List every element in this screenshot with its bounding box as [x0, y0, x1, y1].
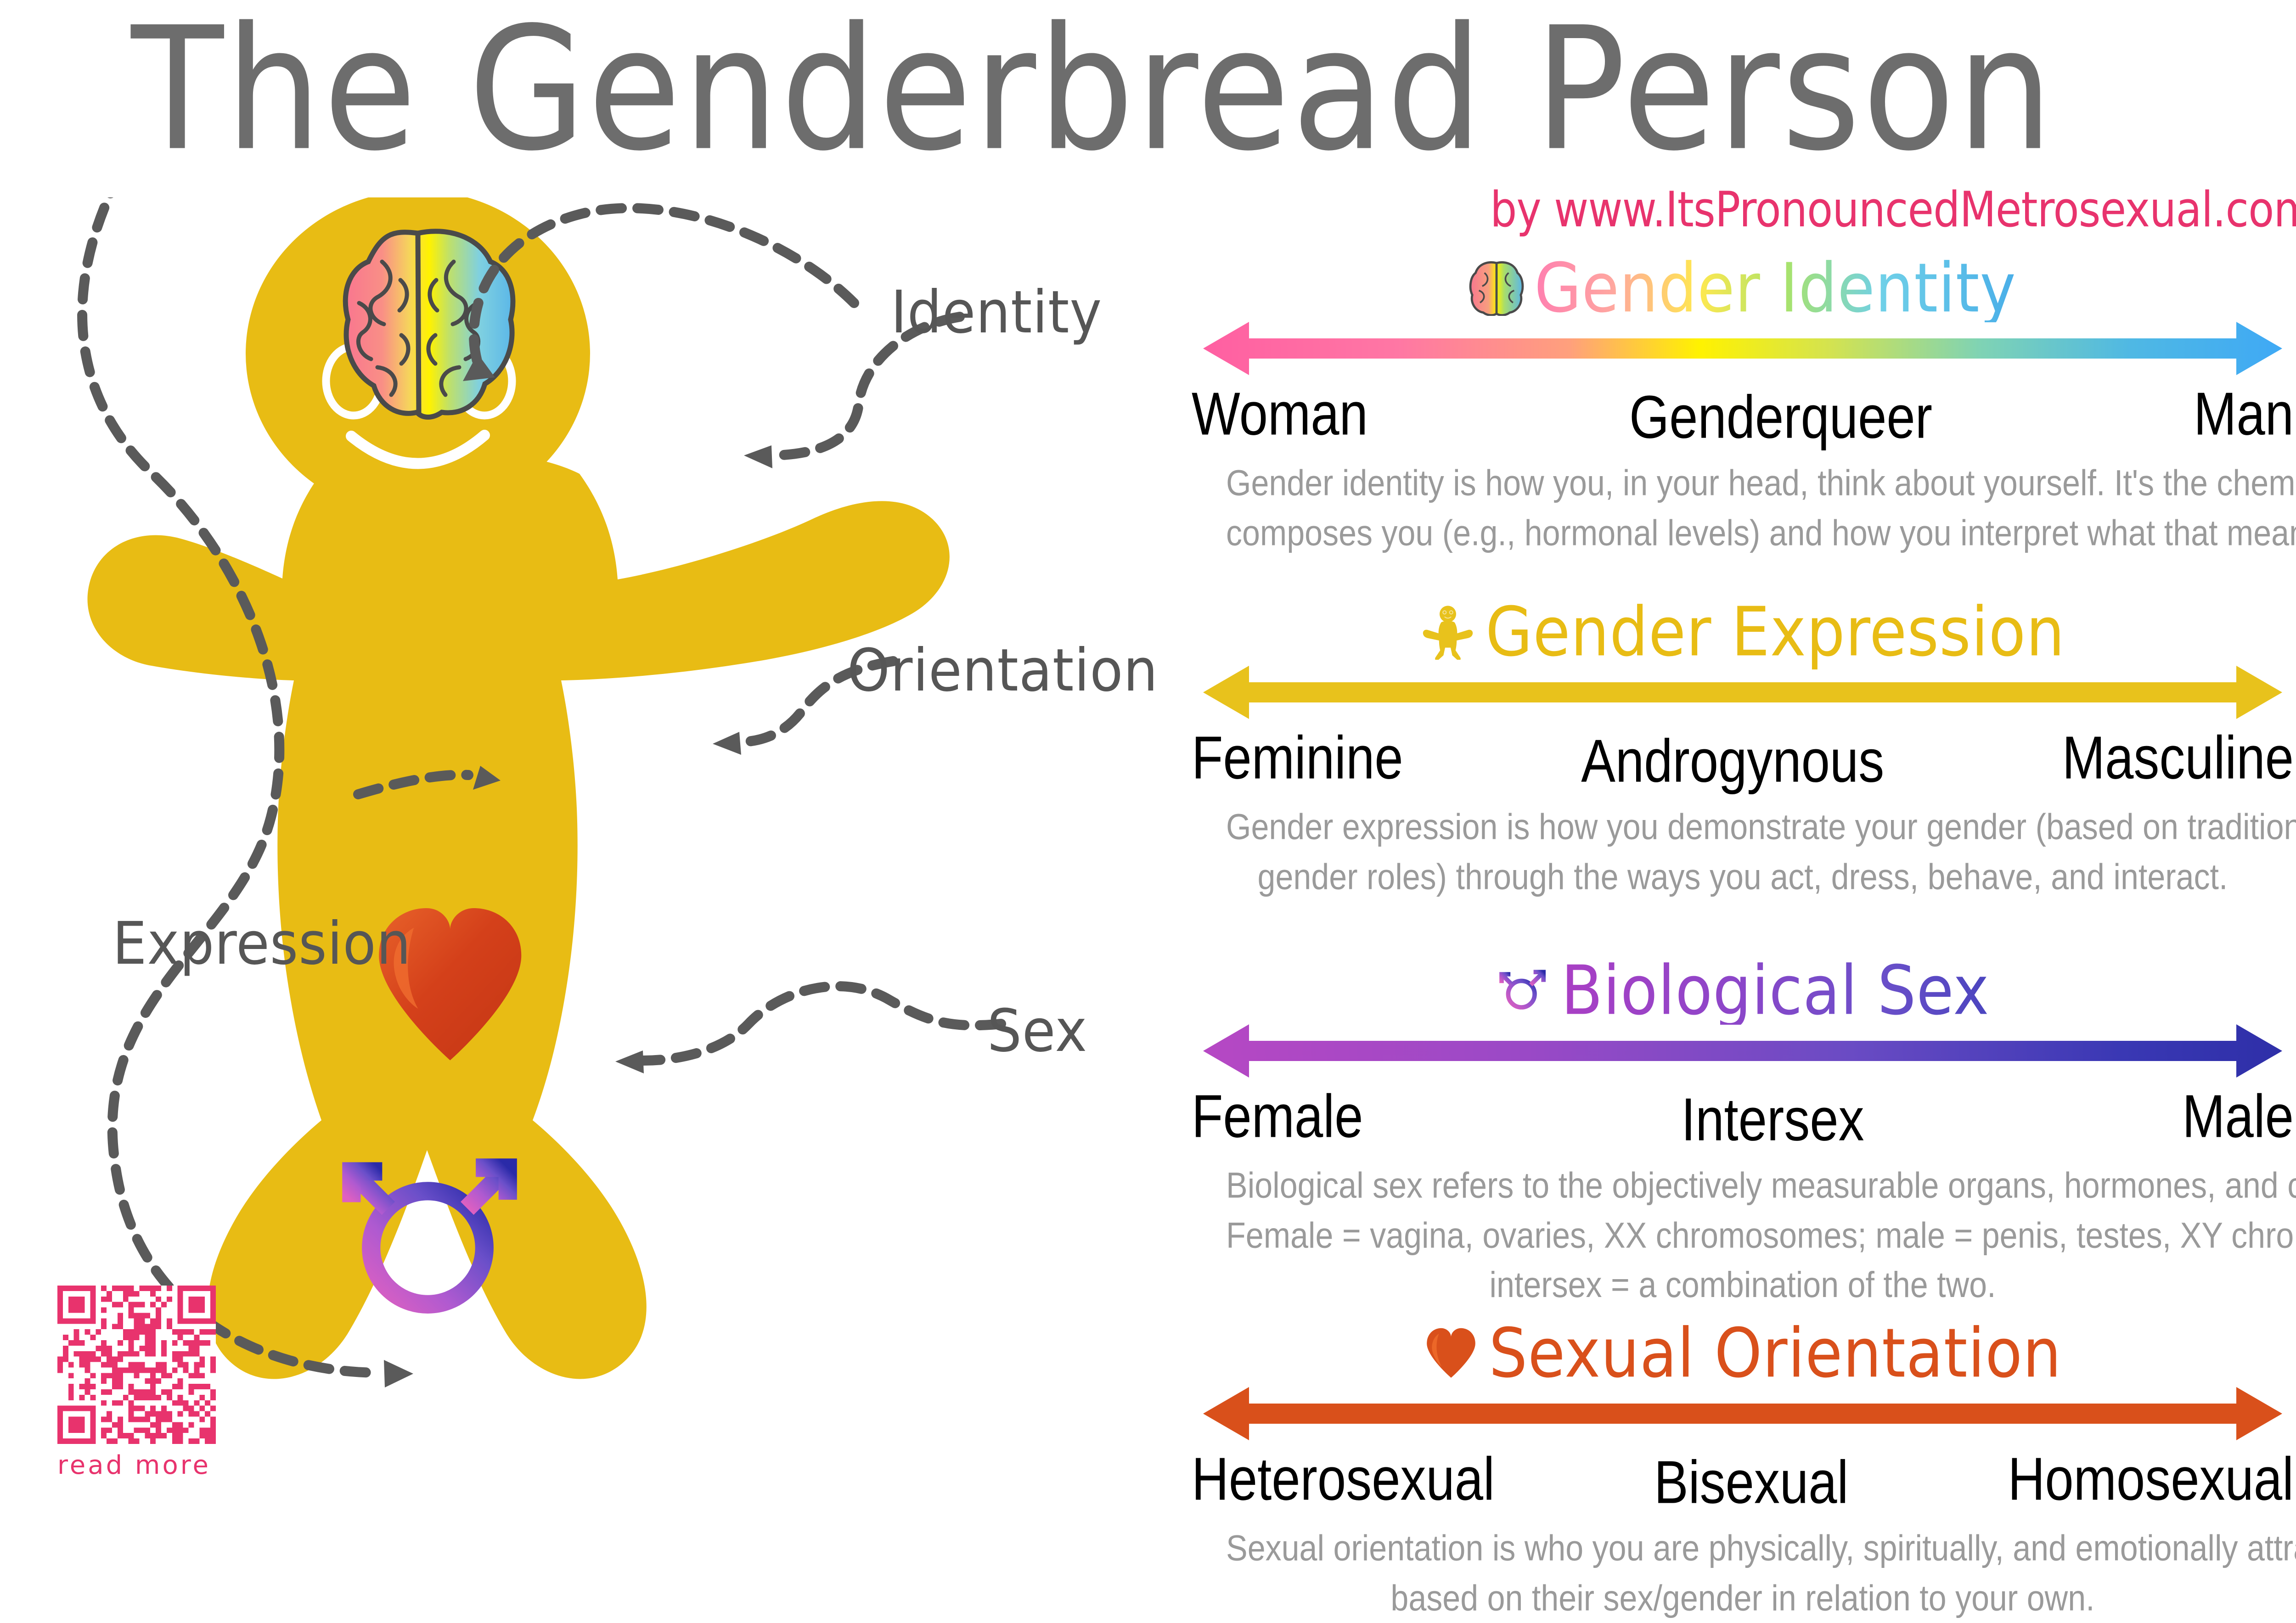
spectrum-pole-labels: Feminine Androgynous Masculine	[1192, 723, 2294, 782]
byline-credit[interactable]: by www.ItsPronouncedMetrosexual.com	[1490, 181, 2296, 238]
pole-mid: Genderqueer	[1629, 382, 1932, 452]
spectrum-arrow	[1176, 665, 2296, 720]
pole-mid: Androgynous	[1581, 726, 1884, 796]
section-description: Biological sex refers to the objectively…	[1226, 1161, 2259, 1310]
transgender-symbol-icon	[351, 1168, 507, 1358]
section-header: Biological Sex	[1176, 960, 2296, 1022]
heart-icon	[1424, 1326, 1479, 1381]
section-title: Gender Identity	[1534, 254, 2016, 322]
callout-label-expression: Expression	[113, 909, 411, 977]
section-description: Gender expression is how you demonstrate…	[1226, 802, 2259, 901]
desc-line: Gender identity is how you, in your head…	[1226, 458, 2259, 508]
section-header: Sexual Orientation	[1176, 1322, 2296, 1384]
pole-right: Masculine	[2062, 723, 2294, 792]
qr-caption: read more	[57, 1450, 232, 1480]
gingerbread-body	[87, 197, 949, 1379]
section-sexual-orientation: Sexual Orientation Heterosexual Bisexual…	[1176, 1322, 2296, 1612]
spectrum-arrow	[1176, 1023, 2296, 1078]
section-description: Gender identity is how you, in your head…	[1226, 458, 2259, 557]
section-gender-expression: Gender Expression Feminine Androgynous M…	[1176, 601, 2296, 891]
spectrum-arrow	[1176, 321, 2296, 376]
callout-label-identity: Identity	[891, 278, 1102, 346]
pole-right: Male	[2182, 1081, 2294, 1151]
section-description: Sexual orientation is who you are physic…	[1226, 1523, 2259, 1623]
section-title: Gender Expression	[1486, 598, 2065, 666]
pole-mid: Intersex	[1681, 1084, 1864, 1154]
pole-mid: Bisexual	[1654, 1447, 1848, 1517]
spectra-sections: Gender Identity Woman Genderqueer Man Ge…	[1176, 257, 2296, 1612]
desc-line: Female = vagina, ovaries, XX chromosomes…	[1226, 1211, 2259, 1260]
title-block: The Genderbread Person	[0, 5, 2186, 156]
pole-left: Female	[1192, 1081, 1363, 1151]
section-biological-sex: Biological Sex Female Intersex Male Biol…	[1176, 960, 2296, 1294]
page-title: The Genderbread Person	[0, 5, 2186, 174]
desc-line: Gender expression is how you demonstrate…	[1226, 802, 2259, 852]
desc-line: intersex = a combination of the two.	[1226, 1260, 2259, 1310]
spectrum-pole-labels: Heterosexual Bisexual Homosexual	[1192, 1444, 2294, 1503]
desc-line: based on their sex/gender in relation to…	[1226, 1573, 2259, 1623]
section-gender-identity: Gender Identity Woman Genderqueer Man Ge…	[1176, 257, 2296, 547]
callout-label-sex: Sex	[987, 996, 1087, 1065]
spectrum-pole-labels: Female Intersex Male	[1192, 1081, 2294, 1140]
section-header: Gender Identity	[1176, 257, 2296, 319]
section-header: Gender Expression	[1176, 601, 2296, 663]
desc-line: composes you (e.g., hormonal levels) and…	[1226, 508, 2259, 557]
pole-left: Heterosexual	[1192, 1444, 1495, 1514]
section-title: Biological Sex	[1561, 957, 1990, 1025]
desc-line: Biological sex refers to the objectively…	[1226, 1161, 2259, 1210]
pole-right: Homosexual	[2008, 1444, 2294, 1514]
transgender-symbol-icon	[1496, 963, 1551, 1018]
qr-block[interactable]: read more	[57, 1286, 232, 1480]
pole-right: Man	[2194, 379, 2294, 449]
spectrum-pole-labels: Woman Genderqueer Man	[1192, 379, 2294, 438]
desc-line: gender roles) through the ways you act, …	[1226, 852, 2259, 901]
pole-left: Feminine	[1192, 723, 1403, 792]
qr-code-icon[interactable]	[57, 1286, 216, 1444]
callout-label-orientation: Orientation	[847, 636, 1158, 704]
gingerbread-person-icon	[1420, 605, 1475, 660]
section-title: Sexual Orientation	[1489, 1320, 2061, 1387]
desc-line: Sexual orientation is who you are physic…	[1226, 1523, 2259, 1573]
spectrum-arrow	[1176, 1386, 2296, 1441]
brain-icon	[1469, 261, 1524, 316]
pole-left: Woman	[1192, 379, 1368, 449]
